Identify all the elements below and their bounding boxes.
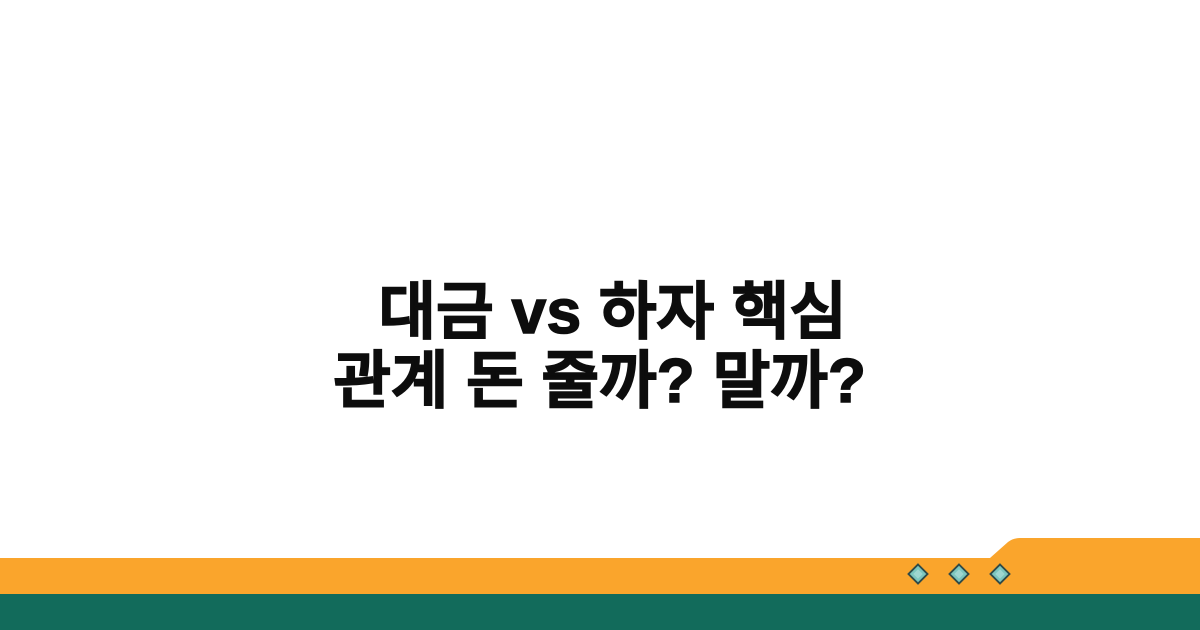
social-card: 대금 vs 하자 핵심 관계 돈 줄까? 말까? [0, 0, 1200, 630]
diamond-icon [987, 561, 1013, 587]
page-title: 대금 vs 하자 핵심 관계 돈 줄까? 말까? [0, 278, 1200, 417]
page-title-line-1: 대금 vs 하자 핵심 [0, 278, 1200, 347]
diamond-icon [946, 561, 972, 587]
footer-teal-base [0, 594, 1200, 630]
page-title-line-2: 관계 돈 줄까? 말까? [0, 347, 1200, 416]
footer-orange-band [0, 538, 1200, 594]
diamond-icon [905, 561, 931, 587]
footer-decoration [0, 530, 1200, 630]
footer-diamond-row [905, 560, 1013, 588]
